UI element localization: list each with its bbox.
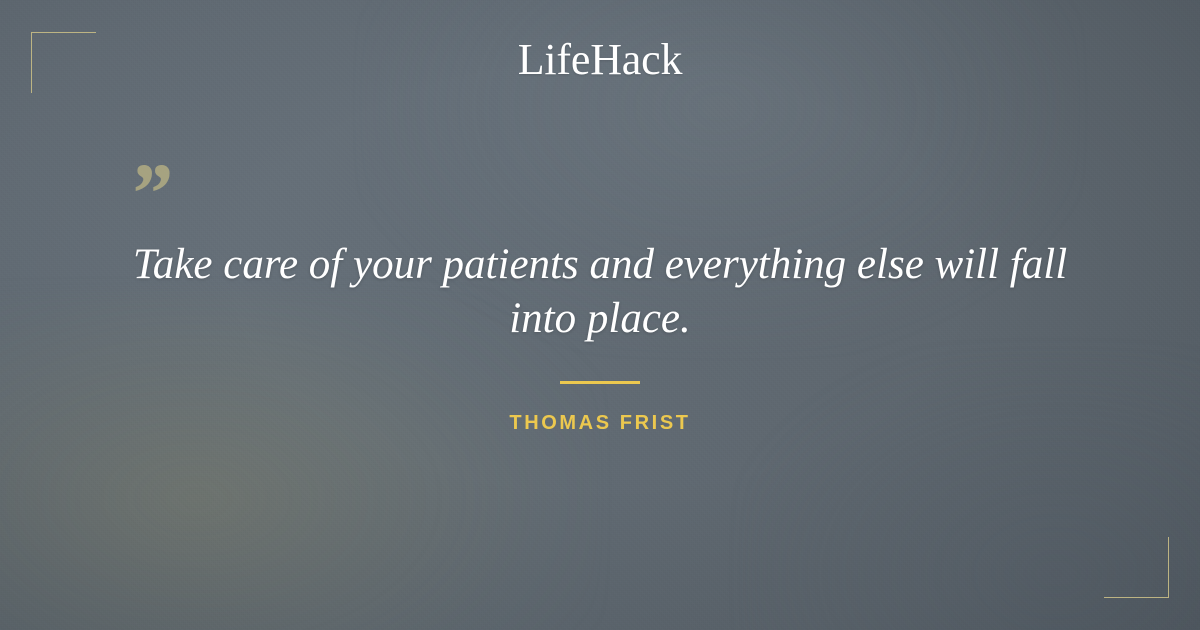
quote-author: THOMAS FRIST [0,412,1200,435]
quotation-mark-icon: ” [128,150,171,236]
quote-card: LifeHack ” Take care of your patients an… [0,0,1200,630]
accent-divider [560,381,640,384]
corner-bracket-bottom-right-icon [1104,537,1169,598]
quote-text: Take care of your patients and everythin… [100,238,1100,346]
lifehack-logo: LifeHack [0,38,1200,82]
